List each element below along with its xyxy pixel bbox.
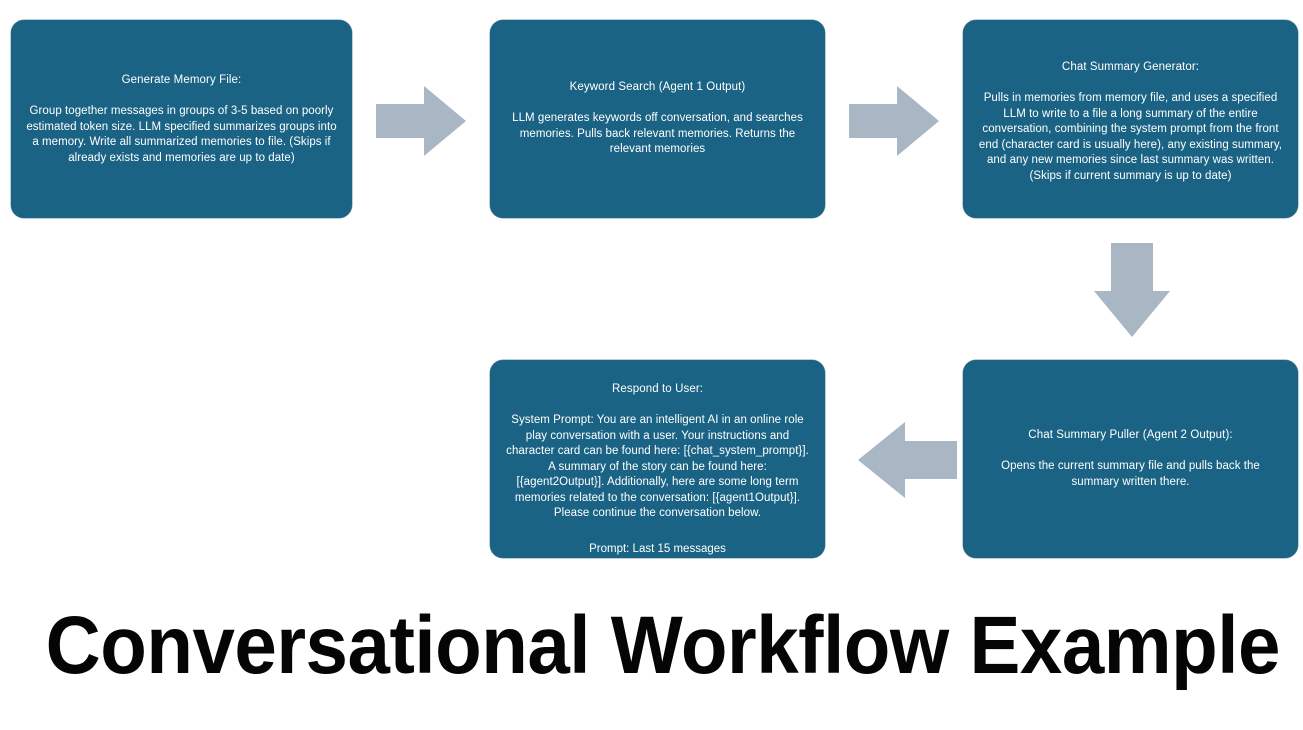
node-content: Generate Memory File: Group together mes… [25, 20, 338, 166]
node-title: Keyword Search (Agent 1 Output) [570, 80, 746, 95]
node-title: Chat Summary Puller (Agent 2 Output): [1028, 428, 1232, 443]
node-body: System Prompt: You are an intelligent AI… [504, 413, 811, 522]
arrow-right-icon [376, 86, 466, 156]
node-body: LLM generates keywords off conversation,… [504, 111, 811, 158]
node-content: Respond to User: System Prompt: You are … [504, 360, 811, 557]
page-title: Conversational Workflow Example [46, 598, 1258, 694]
arrow-down-icon [1094, 243, 1170, 337]
process-node-generate-memory-file[interactable]: Generate Memory File: Group together mes… [11, 20, 352, 218]
node-body: Pulls in memories from memory file, and … [977, 91, 1284, 184]
diagram-canvas: Generate Memory File: Group together mes… [0, 0, 1303, 730]
process-node-respond-to-user[interactable]: Respond to User: System Prompt: You are … [490, 360, 825, 558]
node-body: Opens the current summary file and pulls… [977, 459, 1284, 490]
node-title: Respond to User: [612, 382, 703, 397]
node-prompt-line: Prompt: Last 15 messages [589, 542, 726, 558]
arrow-right-icon [849, 86, 939, 156]
node-body: Group together messages in groups of 3-5… [25, 104, 338, 166]
node-content: Chat Summary Generator: Pulls in memorie… [977, 20, 1284, 184]
node-content: Chat Summary Puller (Agent 2 Output): Op… [977, 360, 1284, 490]
process-node-chat-summary-puller[interactable]: Chat Summary Puller (Agent 2 Output): Op… [963, 360, 1298, 558]
node-title: Chat Summary Generator: [1062, 60, 1199, 75]
node-title: Generate Memory File: [122, 73, 242, 88]
process-node-chat-summary-generator[interactable]: Chat Summary Generator: Pulls in memorie… [963, 20, 1298, 218]
process-node-keyword-search[interactable]: Keyword Search (Agent 1 Output) LLM gene… [490, 20, 825, 218]
arrow-left-icon [858, 422, 957, 498]
node-content: Keyword Search (Agent 1 Output) LLM gene… [504, 20, 811, 158]
